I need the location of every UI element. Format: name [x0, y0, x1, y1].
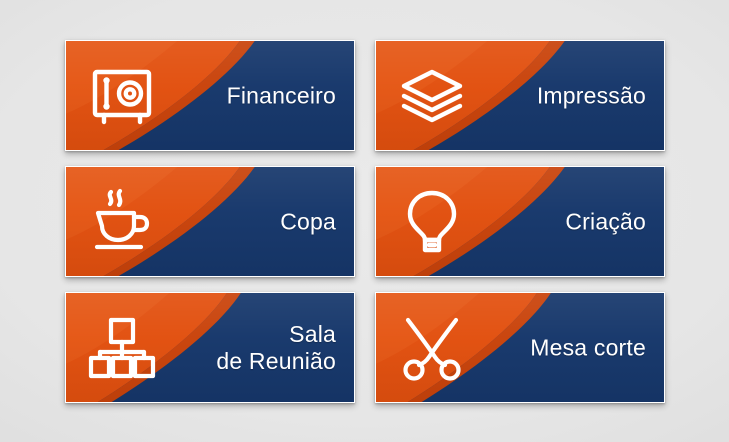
scissors-icon [398, 314, 466, 382]
card-mesa-corte[interactable]: Mesa corte [375, 292, 665, 403]
card-criacao[interactable]: Criação [375, 166, 665, 277]
card-grid: Financeiro [65, 40, 665, 402]
layers-icon [398, 62, 466, 130]
lightbulb-icon [398, 188, 466, 256]
card-financeiro[interactable]: Financeiro [65, 40, 355, 151]
card-label-criacao: Criação [565, 208, 646, 235]
card-label-sala-de-reuniao: Sala de Reunião [216, 320, 336, 374]
page-root: Financeiro [0, 0, 729, 442]
coffee-cup-icon [88, 188, 156, 256]
card-copa[interactable]: Copa [65, 166, 355, 277]
card-label-mesa-corte: Mesa corte [530, 334, 646, 361]
card-sala-de-reuniao[interactable]: Sala de Reunião [65, 292, 355, 403]
card-label-copa: Copa [280, 208, 336, 235]
safe-icon [88, 62, 156, 130]
card-impressao[interactable]: Impressão [375, 40, 665, 151]
card-label-impressao: Impressão [537, 82, 646, 109]
card-label-financeiro: Financeiro [227, 82, 336, 109]
org-chart-icon [88, 314, 156, 382]
